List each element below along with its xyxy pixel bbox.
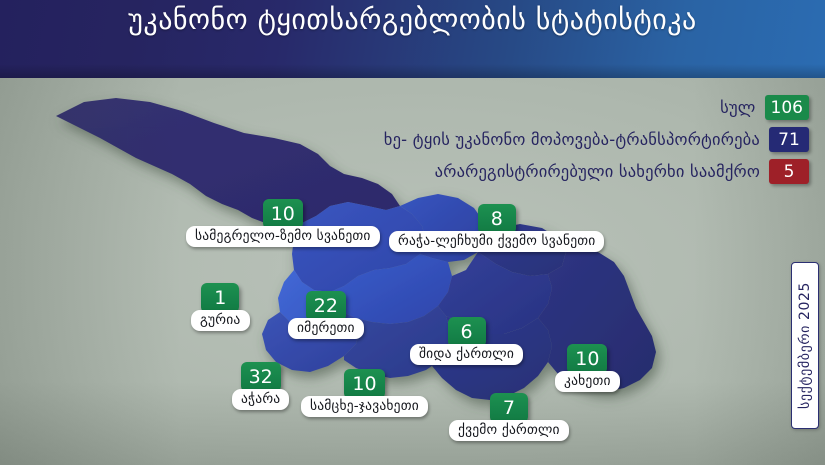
marker-region-label: კახეთი <box>555 371 620 392</box>
infographic-page: უკანონო ტყითსარგებლობის სტატისტიკა სულ 1… <box>0 0 825 465</box>
legend-label-total: სულ <box>720 98 755 117</box>
marker-count-badge: 10 <box>344 369 384 399</box>
map-marker: 10სამცხე-ჯავახეთი <box>301 369 428 417</box>
marker-count-badge: 8 <box>478 204 516 234</box>
marker-region-label: ქვემო ქართლი <box>449 420 569 441</box>
marker-count-badge: 1 <box>201 283 239 313</box>
map-marker: 32აჭარა <box>232 362 289 410</box>
marker-count-badge: 32 <box>241 362 281 392</box>
map-marker: 10სამეგრელო-ზემო სვანეთი <box>186 199 380 247</box>
map-marker: 7ქვემო ქართლი <box>449 393 569 441</box>
marker-region-label: სამცხე-ჯავახეთი <box>301 396 428 417</box>
marker-count-badge: 10 <box>263 199 303 229</box>
legend-chip-unregistered-sawmill: 5 <box>769 159 809 184</box>
legend-chip-illegal-logging-transport: 71 <box>769 127 809 152</box>
marker-region-label: რაჭა-ლეჩხუმი ქვემო სვანეთი <box>389 231 604 252</box>
legend: სულ 106 ხე- ტყის უკანონო მოპოვება-ტრანსპ… <box>384 95 809 184</box>
marker-count-badge: 10 <box>567 344 607 374</box>
marker-count-badge: 6 <box>448 317 486 347</box>
marker-region-label: შიდა ქართლი <box>410 344 523 365</box>
legend-chip-total: 106 <box>765 95 809 120</box>
legend-row-illegal-logging-transport: ხე- ტყის უკანონო მოპოვება-ტრანსპორტირება… <box>384 127 809 152</box>
marker-count-badge: 7 <box>490 393 528 423</box>
marker-region-label: აჭარა <box>232 389 289 410</box>
marker-region-label: იმერეთი <box>288 318 364 339</box>
legend-label-illegal-logging-transport: ხე- ტყის უკანონო მოპოვება-ტრანსპორტირება <box>384 130 760 149</box>
legend-row-total: სულ 106 <box>720 95 809 120</box>
page-header: უკანონო ტყითსარგებლობის სტატისტიკა <box>0 0 825 78</box>
legend-row-unregistered-sawmill: არარეგისტრირებული სახერხი საამქრო 5 <box>435 159 809 184</box>
map-marker: 6შიდა ქართლი <box>410 317 523 365</box>
marker-region-label: სამეგრელო-ზემო სვანეთი <box>186 226 380 247</box>
page-title: უკანონო ტყითსარგებლობის სტატისტიკა <box>128 3 696 36</box>
map-marker: 10კახეთი <box>555 344 620 392</box>
map-marker: 22იმერეთი <box>288 291 364 339</box>
marker-region-label: გურია <box>191 310 250 331</box>
legend-label-unregistered-sawmill: არარეგისტრირებული სახერხი საამქრო <box>435 162 760 181</box>
map-marker: 1გურია <box>191 283 250 331</box>
map-marker: 8რაჭა-ლეჩხუმი ქვემო სვანეთი <box>389 204 604 252</box>
date-tag-label: სექტემბერი 2025 <box>797 282 813 409</box>
date-tag: სექტემბერი 2025 <box>791 262 819 429</box>
marker-count-badge: 22 <box>306 291 346 321</box>
